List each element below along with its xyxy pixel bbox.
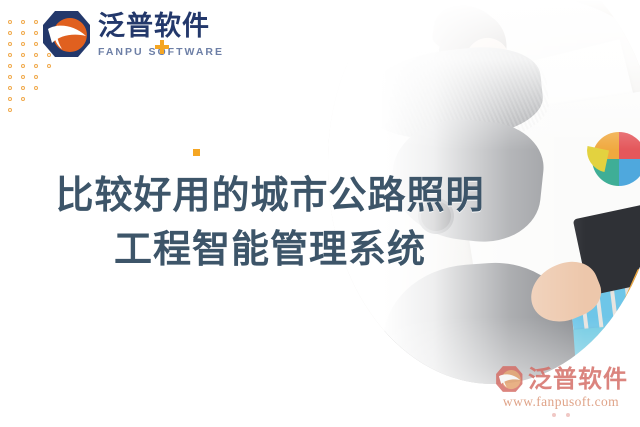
watermark-dots-icon (494, 413, 628, 417)
grid-dot (34, 42, 38, 46)
brand-logo[interactable]: 泛普软件 FANPU SOFTWARE (40, 6, 224, 62)
grid-dot (21, 53, 25, 57)
pie-chart-icon (592, 132, 640, 186)
fanpu-watermark-logo-icon (494, 365, 524, 393)
grid-dot (34, 20, 38, 24)
grid-dot (21, 97, 25, 101)
grid-dot (8, 20, 12, 24)
page-title-line-1: 比较好用的城市公路照明 (0, 168, 540, 222)
grid-dot (8, 86, 12, 90)
grid-dot (8, 42, 12, 46)
grid-dot (47, 64, 51, 68)
grid-dot (34, 53, 38, 57)
orange-accent-square-icon (193, 149, 200, 156)
grid-dot (21, 75, 25, 79)
fanpu-hexagon-logo-icon (40, 9, 92, 59)
brand-logo-text: 泛普软件 FANPU SOFTWARE (98, 12, 224, 56)
grid-dot (34, 31, 38, 35)
grid-dot (8, 97, 12, 101)
brand-name-cn: 泛普软件 (98, 12, 224, 42)
grid-dot (8, 75, 12, 79)
watermark-name-cn: 泛普软件 (528, 366, 628, 392)
grid-dot (34, 64, 38, 68)
grid-dot (34, 75, 38, 79)
banner-canvas: 泛普软件 FANPU SOFTWARE (0, 0, 640, 427)
grid-dot (21, 86, 25, 90)
watermark: 泛普软件 www.fanpusoft.com (494, 365, 628, 417)
watermark-url: www.fanpusoft.com (494, 394, 628, 410)
grid-dot (8, 31, 12, 35)
grid-dot (21, 31, 25, 35)
grid-dot (21, 42, 25, 46)
brand-name-en-row: FANPU SOFTWARE (98, 42, 224, 56)
watermark-row: 泛普软件 (494, 365, 628, 393)
grid-dot (34, 86, 38, 90)
grid-dot (21, 64, 25, 68)
grid-dot (21, 20, 25, 24)
grid-dot (8, 64, 12, 68)
page-title-line-2: 工程智能管理系统 (0, 222, 540, 276)
grid-dot (8, 53, 12, 57)
page-title: 比较好用的城市公路照明 工程智能管理系统 (0, 168, 540, 276)
orange-plus-icon (155, 40, 169, 54)
grid-dot (8, 108, 12, 112)
